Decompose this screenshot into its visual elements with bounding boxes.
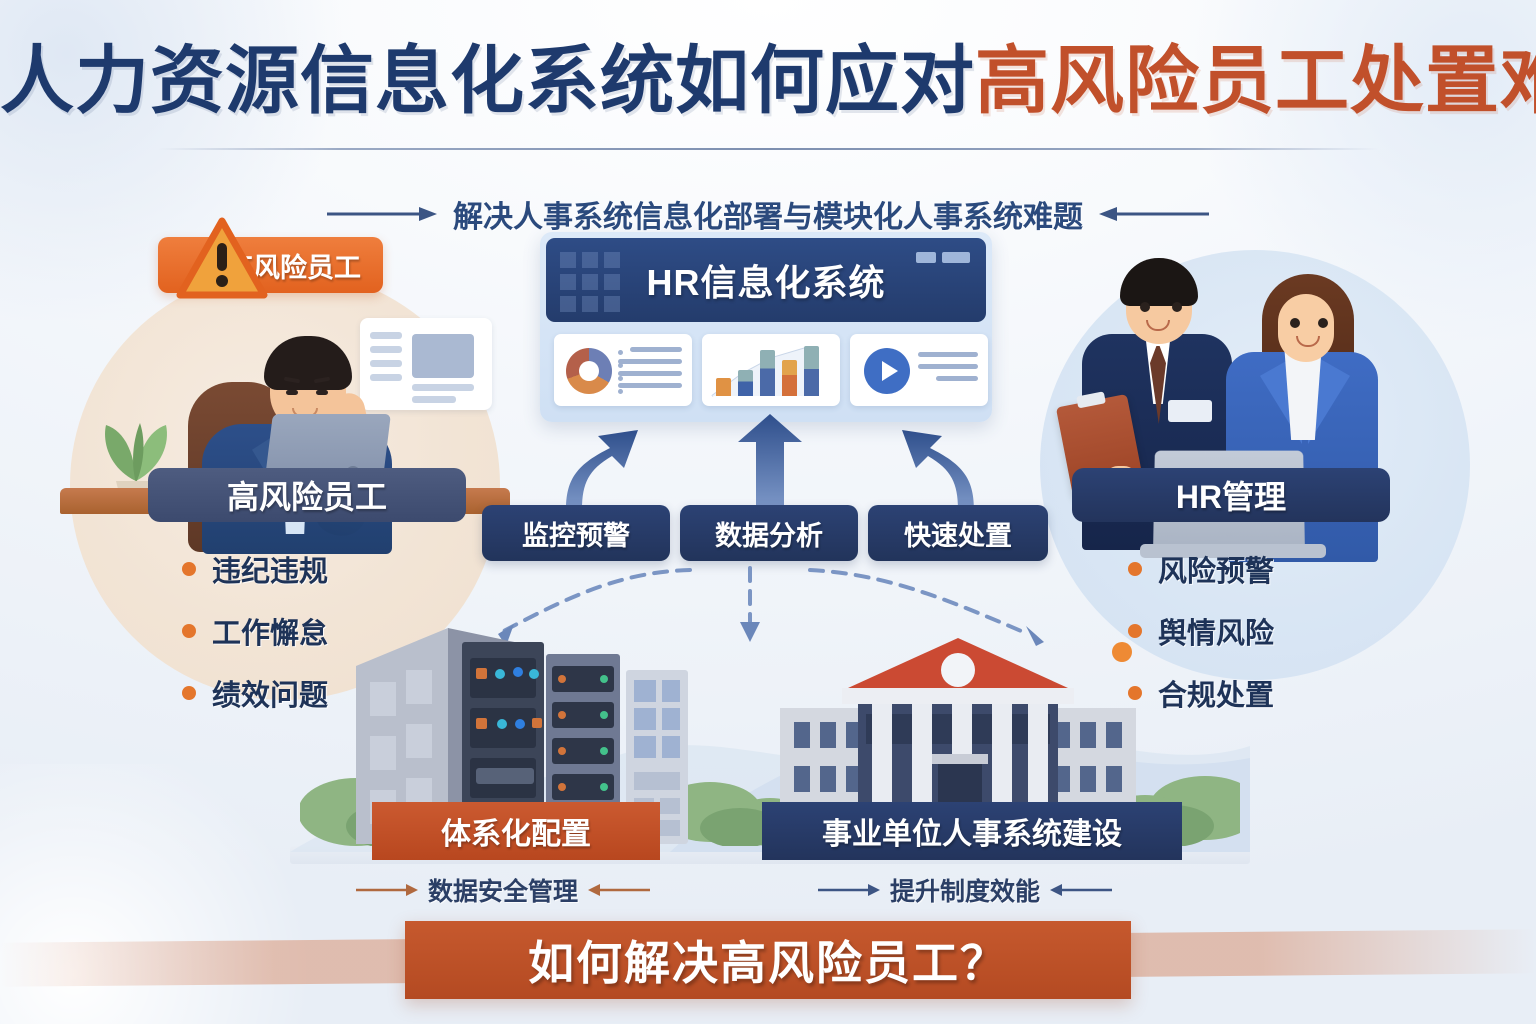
arrow-up-right-icon bbox=[902, 430, 974, 510]
bullet-dot-icon bbox=[182, 562, 196, 576]
title-main-text: 人力资源信息化系统如何应对 bbox=[0, 39, 975, 122]
arrow-right-small-icon bbox=[818, 883, 880, 897]
bullet-dot-icon bbox=[182, 624, 196, 638]
high-risk-warning-badge: 高风险员工 bbox=[158, 237, 383, 293]
wall-chart-card bbox=[360, 318, 492, 410]
arrow-left-small-icon bbox=[588, 883, 650, 897]
arrow-left-icon bbox=[1099, 205, 1209, 223]
list-item: 违纪违规 bbox=[182, 548, 328, 590]
title-block: 人力资源信息化系统如何应对高风险员工处置难题？ 解决人事系统信息化部署与模块化人… bbox=[0, 44, 1536, 118]
title-divider bbox=[158, 148, 1378, 150]
bottom-left-label: 体系化配置 bbox=[372, 802, 660, 860]
bottom-right-label: 事业单位人事系统建设 bbox=[762, 802, 1182, 860]
page-subtitle: 解决人事系统信息化部署与模块化人事系统难题 bbox=[453, 192, 1083, 236]
hr-system-title: HR信息化系统 bbox=[647, 254, 886, 306]
arrow-left-small-icon bbox=[1050, 883, 1112, 897]
bottom-left-caption: 数据安全管理 bbox=[428, 872, 578, 908]
chip-analysis[interactable]: 数据分析 bbox=[680, 505, 858, 561]
bullet-text: 违纪违规 bbox=[212, 548, 328, 590]
chip-label: 监控预警 bbox=[522, 514, 630, 553]
bullet-dots bbox=[618, 350, 623, 394]
chip-disposal[interactable]: 快速处置 bbox=[868, 505, 1048, 561]
arrow-up-center-icon bbox=[738, 414, 802, 510]
report-lines bbox=[618, 347, 682, 388]
bullet-dot-icon bbox=[182, 686, 196, 700]
dashed-arrow-right bbox=[810, 570, 1028, 634]
window-controls-icon bbox=[916, 252, 970, 263]
bottom-right-label-text: 事业单位人事系统建设 bbox=[822, 809, 1122, 853]
left-panel-label-text: 高风险员工 bbox=[227, 472, 387, 518]
bottom-banner: 如何解决高风险员工？ bbox=[405, 921, 1131, 999]
bottom-left-caption-row: 数据安全管理 bbox=[356, 872, 650, 908]
subtitle-block: 解决人事系统信息化部署与模块化人事系统难题 bbox=[327, 192, 1209, 236]
donut-report-card[interactable] bbox=[554, 334, 692, 406]
dashboard-card-row bbox=[554, 334, 988, 406]
bullet-dot-icon bbox=[1128, 562, 1142, 576]
chip-label: 快速处置 bbox=[904, 514, 1012, 553]
title-highlight-text: 高风险员工处置难题？ bbox=[975, 39, 1536, 122]
arrow-right-icon bbox=[327, 205, 437, 223]
bar-chart-icon bbox=[716, 344, 819, 396]
bottom-banner-text: 如何解决高风险员工？ bbox=[528, 927, 1008, 993]
hr-system-header: HR信息化系统 bbox=[546, 238, 986, 322]
right-panel-label: HR管理 bbox=[1072, 468, 1390, 522]
donut-chart-icon bbox=[566, 348, 612, 394]
right-panel-label-text: HR管理 bbox=[1176, 472, 1286, 518]
chip-monitoring[interactable]: 监控预警 bbox=[482, 505, 670, 561]
arrow-up-left-icon bbox=[566, 430, 638, 510]
hr-system-card: HR信息化系统 bbox=[540, 232, 992, 422]
infographic-canvas: 人力资源信息化系统如何应对高风险员工处置难题？ 解决人事系统信息化部署与模块化人… bbox=[0, 0, 1536, 1024]
bottom-right-caption: 提升制度效能 bbox=[890, 872, 1040, 908]
warning-triangle-icon bbox=[176, 215, 268, 301]
arrow-right-small-icon bbox=[356, 883, 418, 897]
grid-pattern-icon bbox=[560, 252, 626, 318]
bar-chart-card[interactable] bbox=[702, 334, 840, 406]
bottom-right-caption-row: 提升制度效能 bbox=[818, 872, 1112, 908]
left-panel-label: 高风险员工 bbox=[148, 468, 466, 522]
play-icon[interactable] bbox=[864, 348, 910, 394]
chip-label: 数据分析 bbox=[715, 514, 823, 553]
list-item: 风险预警 bbox=[1128, 548, 1274, 590]
video-meta-lines bbox=[918, 352, 978, 381]
upward-arrows-group bbox=[470, 414, 1070, 510]
page-title: 人力资源信息化系统如何应对高风险员工处置难题？ bbox=[0, 44, 1536, 118]
bullet-text: 风险预警 bbox=[1158, 548, 1274, 590]
video-playback-card[interactable] bbox=[850, 334, 988, 406]
bottom-left-label-text: 体系化配置 bbox=[441, 809, 591, 853]
